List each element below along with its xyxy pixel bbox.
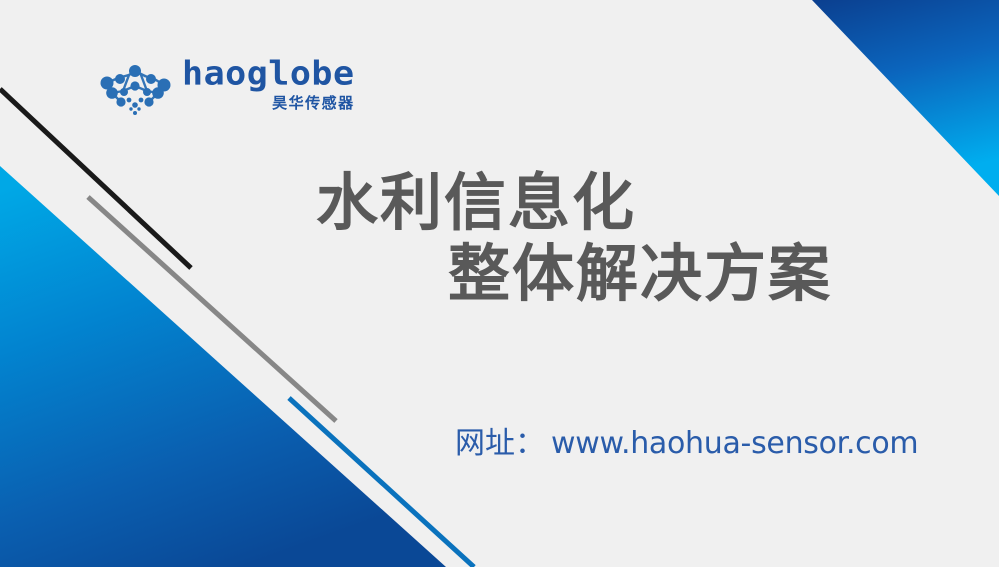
headline-line-2: 整体解决方案 <box>0 239 999 310</box>
website-line: 网址： www.haohua-sensor.com <box>455 418 918 462</box>
title-slide: haoglobe 昊华传感器 水利信息化 整体解决方案 网址： www.haoh… <box>0 0 999 567</box>
website-url[interactable]: www.haohua-sensor.com <box>551 426 918 461</box>
company-logo: haoglobe 昊华传感器 <box>98 58 355 116</box>
headline-line-1: 水利信息化 <box>0 168 999 239</box>
network-nodes-icon <box>98 64 172 116</box>
logo-text-group: haoglobe 昊华传感器 <box>182 58 355 111</box>
logo-subtitle: 昊华传感器 <box>272 96 355 111</box>
website-label: 网址： <box>455 418 545 462</box>
page-title: 水利信息化 整体解决方案 <box>0 168 999 309</box>
logo-wordmark: haoglobe <box>182 58 355 91</box>
